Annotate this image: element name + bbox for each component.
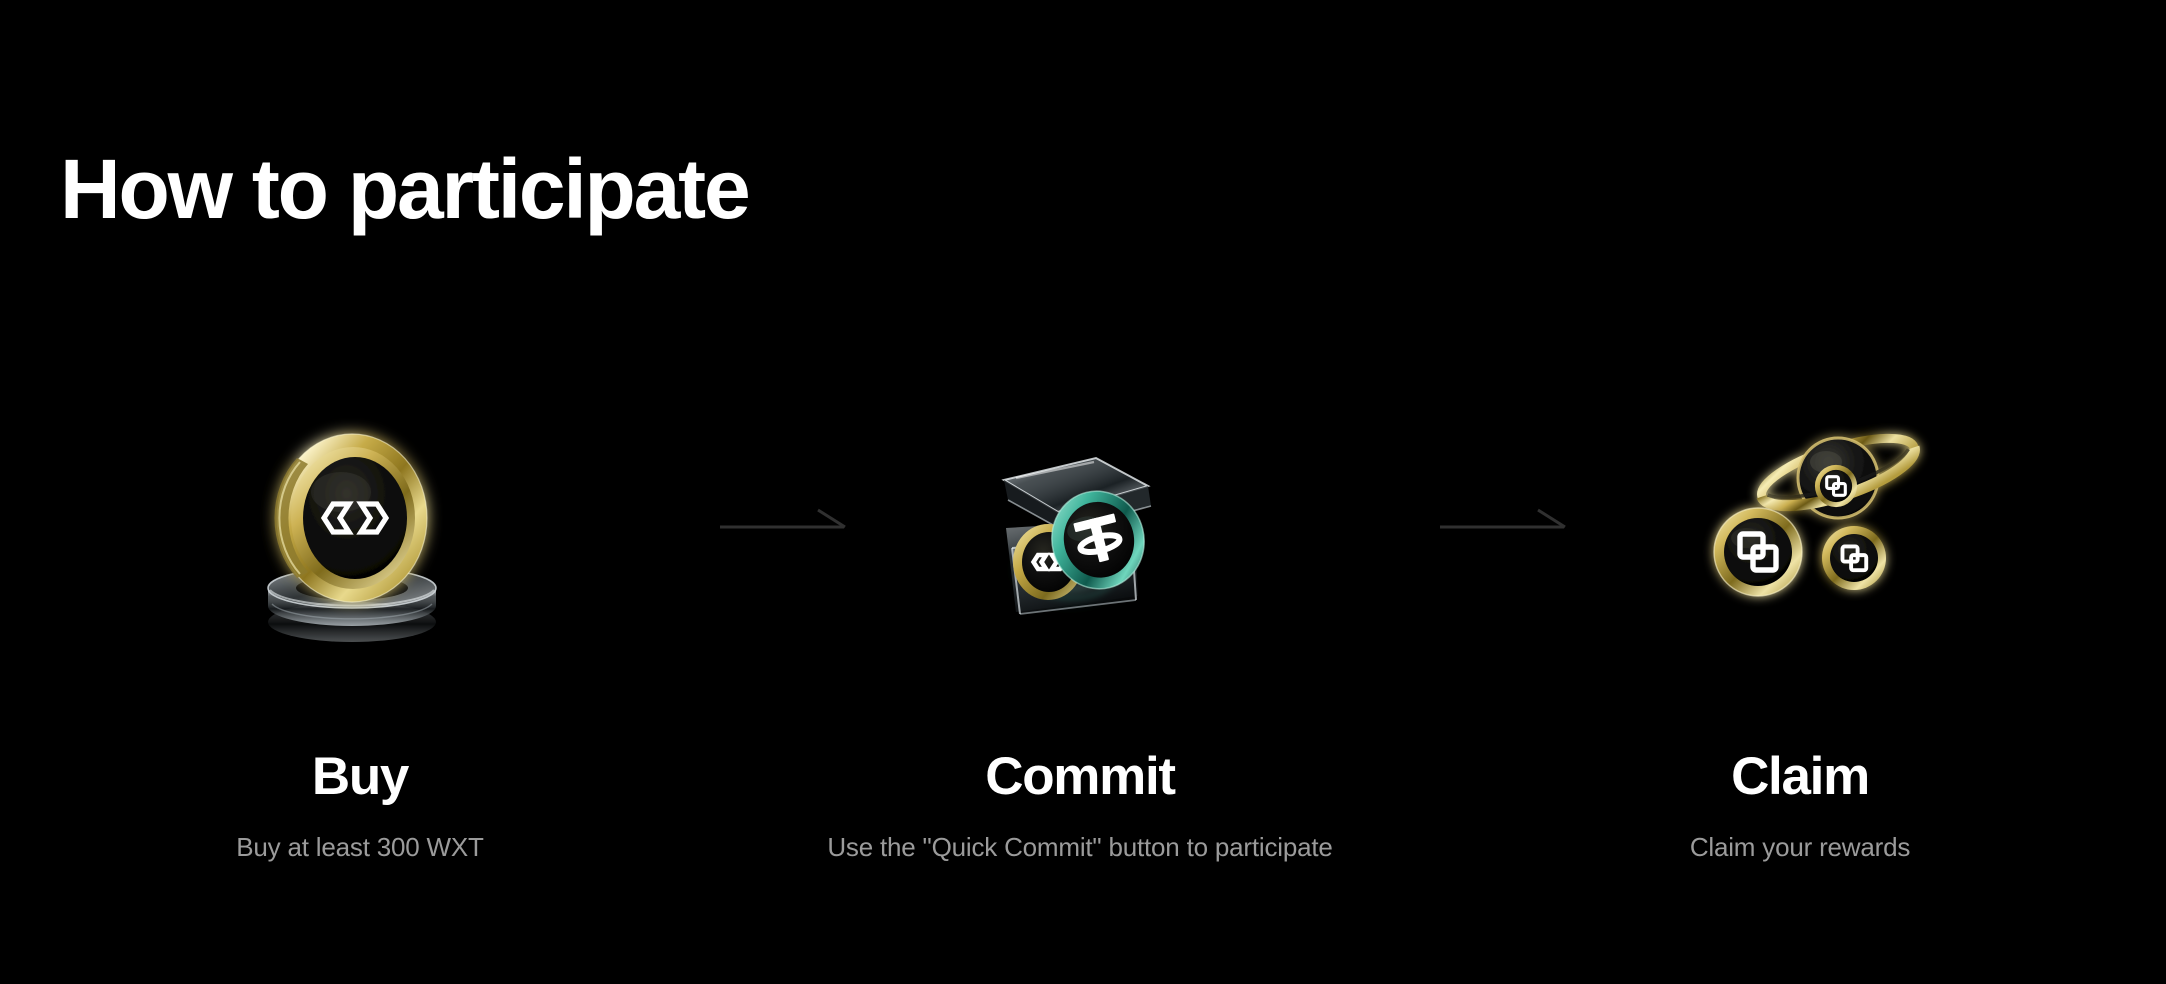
page-title: How to participate bbox=[60, 145, 748, 233]
step-art-buy bbox=[200, 400, 520, 650]
step-title: Claim bbox=[1731, 750, 1869, 803]
step-description: Claim your rewards bbox=[1690, 832, 1910, 863]
step-claim: Claim Claim your rewards bbox=[1440, 400, 2160, 863]
steps-row: Buy Buy at least 300 WXT bbox=[0, 400, 2166, 920]
step-description: Buy at least 300 WXT bbox=[236, 832, 483, 863]
step-title: Commit bbox=[985, 750, 1174, 803]
step-art-claim bbox=[1640, 400, 1960, 650]
wxt-coin-icon bbox=[200, 400, 520, 650]
treasure-chest-icon bbox=[920, 400, 1240, 650]
step-title: Buy bbox=[312, 750, 408, 803]
step-art-commit bbox=[920, 400, 1240, 650]
step-description: Use the "Quick Commit" button to partici… bbox=[827, 832, 1332, 863]
rewards-planet-icon bbox=[1640, 400, 1960, 650]
step-commit: Commit Use the "Quick Commit" button to … bbox=[720, 400, 1440, 863]
step-buy: Buy Buy at least 300 WXT bbox=[0, 400, 720, 863]
